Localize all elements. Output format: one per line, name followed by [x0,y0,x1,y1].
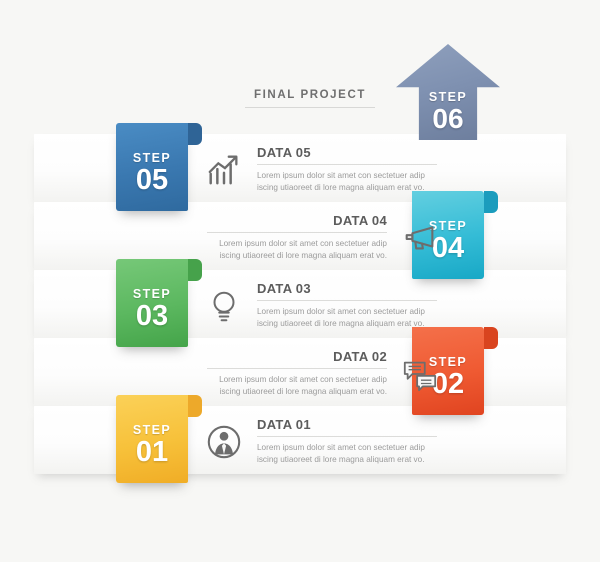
ribbon-step-number-01: 01 [116,437,188,468]
ribbon-fold-step-02 [484,327,498,349]
megaphone-icon [401,219,439,257]
ribbon-fold-step-04 [484,191,498,213]
businessman-icon [205,423,243,461]
speech-bubbles-icon [401,355,439,393]
step-06-arrow[interactable]: STEP 06 [396,44,500,140]
content-step-02: DATA 02 Lorem ipsum dolor sit amet con s… [207,349,439,399]
data-title-01: DATA 01 [257,417,437,437]
ribbon-step-03[interactable]: STEP 03 [116,259,188,347]
ribbon-step-number-05: 05 [116,165,188,196]
text-block-step-05: DATA 05 Lorem ipsum dolor sit amet con s… [257,145,437,195]
ribbon-step-number-03: 03 [116,301,188,332]
arrow-step-number: 06 [396,104,500,135]
growth-chart-icon [205,151,243,189]
data-title-02: DATA 02 [207,349,387,369]
ribbon-fold-step-05 [188,123,202,145]
text-block-step-02: DATA 02 Lorem ipsum dolor sit amet con s… [207,349,387,399]
data-title-05: DATA 05 [257,145,437,165]
content-step-05: DATA 05 Lorem ipsum dolor sit amet con s… [205,145,437,195]
arrow-label: STEP 06 [396,90,500,135]
text-block-step-01: DATA 01 Lorem ipsum dolor sit amet con s… [257,417,437,467]
ribbon-fold-step-03 [188,259,202,281]
title-underline [245,107,375,108]
final-project-title: FINAL PROJECT [245,89,375,108]
final-project-title-text: FINAL PROJECT [245,89,375,101]
data-body-02: Lorem ipsum dolor sit amet con sectetuer… [207,374,387,399]
ribbon-step-word-05: STEP [116,151,188,165]
data-title-03: DATA 03 [257,281,437,301]
arrow-step-word: STEP [396,90,500,104]
content-step-04: DATA 04 Lorem ipsum dolor sit amet con s… [207,213,439,263]
data-body-04: Lorem ipsum dolor sit amet con sectetuer… [207,238,387,263]
lightbulb-icon [205,287,243,325]
content-step-03: DATA 03 Lorem ipsum dolor sit amet con s… [205,281,437,331]
ribbon-step-05[interactable]: STEP 05 [116,123,188,211]
data-body-03: Lorem ipsum dolor sit amet con sectetuer… [257,306,437,331]
ribbon-step-01[interactable]: STEP 01 [116,395,188,483]
ribbon-fold-step-01 [188,395,202,417]
content-step-01: DATA 01 Lorem ipsum dolor sit amet con s… [205,417,437,467]
data-body-05: Lorem ipsum dolor sit amet con sectetuer… [257,170,437,195]
ribbon-step-word-01: STEP [116,423,188,437]
text-block-step-04: DATA 04 Lorem ipsum dolor sit amet con s… [207,213,387,263]
infographic-canvas: FINAL PROJECT STEP 06 STEP 05 STEP 04 ST… [0,0,600,562]
data-title-04: DATA 04 [207,213,387,233]
text-block-step-03: DATA 03 Lorem ipsum dolor sit amet con s… [257,281,437,331]
data-body-01: Lorem ipsum dolor sit amet con sectetuer… [257,442,437,467]
ribbon-step-word-03: STEP [116,287,188,301]
